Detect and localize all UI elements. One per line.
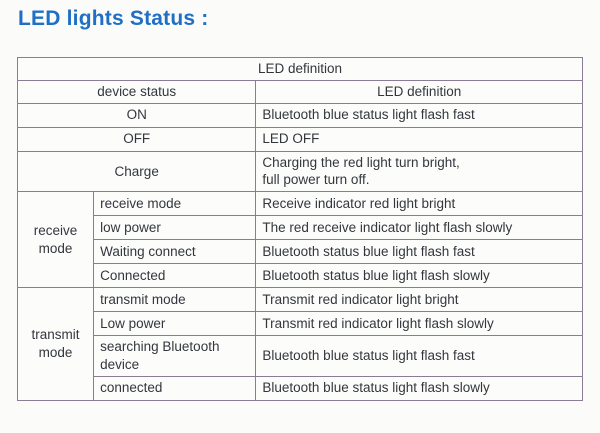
mode-transmit-searching: searching Bluetooth device [94,336,256,377]
mode-transmit-low-power: Low power [94,312,256,336]
table-row: low power The red receive indicator ligh… [18,216,583,240]
group-label-receive-line2: mode [24,240,87,258]
mode-receive-connected: Connected [94,264,256,288]
definition-transmit-mode: Transmit red indicator light bright [256,288,583,312]
group-label-transmit-line1: transmit [24,326,87,344]
status-off: OFF [18,127,256,151]
definition-charge-line2: full power turn off. [262,171,576,189]
table-row: receive mode receive mode Receive indica… [18,192,583,216]
status-charge: Charge [18,151,256,192]
table-row: connected Bluetooth blue status light fl… [18,376,583,400]
table-caption: LED definition [18,58,583,81]
mode-transmit-searching-line1: searching Bluetooth [100,338,249,356]
mode-transmit-connected: connected [94,376,256,400]
group-label-receive-line1: receive [24,222,87,240]
mode-receive-low-power: low power [94,216,256,240]
definition-off: LED OFF [256,127,583,151]
definition-charge-line1: Charging the red light turn bright, [262,154,576,172]
table-row: Connected Bluetooth status blue light fl… [18,264,583,288]
definition-transmit-connected: Bluetooth blue status light flash slowly [256,376,583,400]
definition-receive-connected: Bluetooth status blue light flash slowly [256,264,583,288]
table-caption-row: LED definition [18,58,583,81]
table-row: Waiting connect Bluetooth status blue li… [18,240,583,264]
definition-receive-low-power: The red receive indicator light flash sl… [256,216,583,240]
led-definition-table: LED definition device status LED definit… [17,57,583,401]
definition-receive-waiting-connect: Bluetooth status blue light flash fast [256,240,583,264]
mode-transmit-mode: transmit mode [94,288,256,312]
definition-on: Bluetooth blue status light flash fast [256,103,583,127]
group-label-transmit-line2: mode [24,344,87,362]
mode-receive-waiting-connect: Waiting connect [94,240,256,264]
definition-transmit-searching: Bluetooth blue status light flash fast [256,336,583,377]
definition-transmit-low-power: Transmit red indicator light flash slowl… [256,312,583,336]
table-row: searching Bluetooth device Bluetooth blu… [18,336,583,377]
table-row: OFF LED OFF [18,127,583,151]
status-on: ON [18,103,256,127]
mode-receive-mode: receive mode [94,192,256,216]
mode-transmit-searching-line2: device [100,356,249,374]
column-header-device-status: device status [18,80,256,103]
table-row: transmit mode transmit mode Transmit red… [18,288,583,312]
table-row: ON Bluetooth blue status light flash fas… [18,103,583,127]
group-label-transmit-mode: transmit mode [18,288,94,401]
table-header-row: device status LED definition [18,80,583,103]
group-label-receive-mode: receive mode [18,192,94,288]
table-row: Low power Transmit red indicator light f… [18,312,583,336]
definition-receive-mode: Receive indicator red light bright [256,192,583,216]
page-title: LED lights Status : [18,7,208,31]
column-header-led-definition: LED definition [256,80,583,103]
table-row: Charge Charging the red light turn brigh… [18,151,583,192]
definition-charge: Charging the red light turn bright, full… [256,151,583,192]
